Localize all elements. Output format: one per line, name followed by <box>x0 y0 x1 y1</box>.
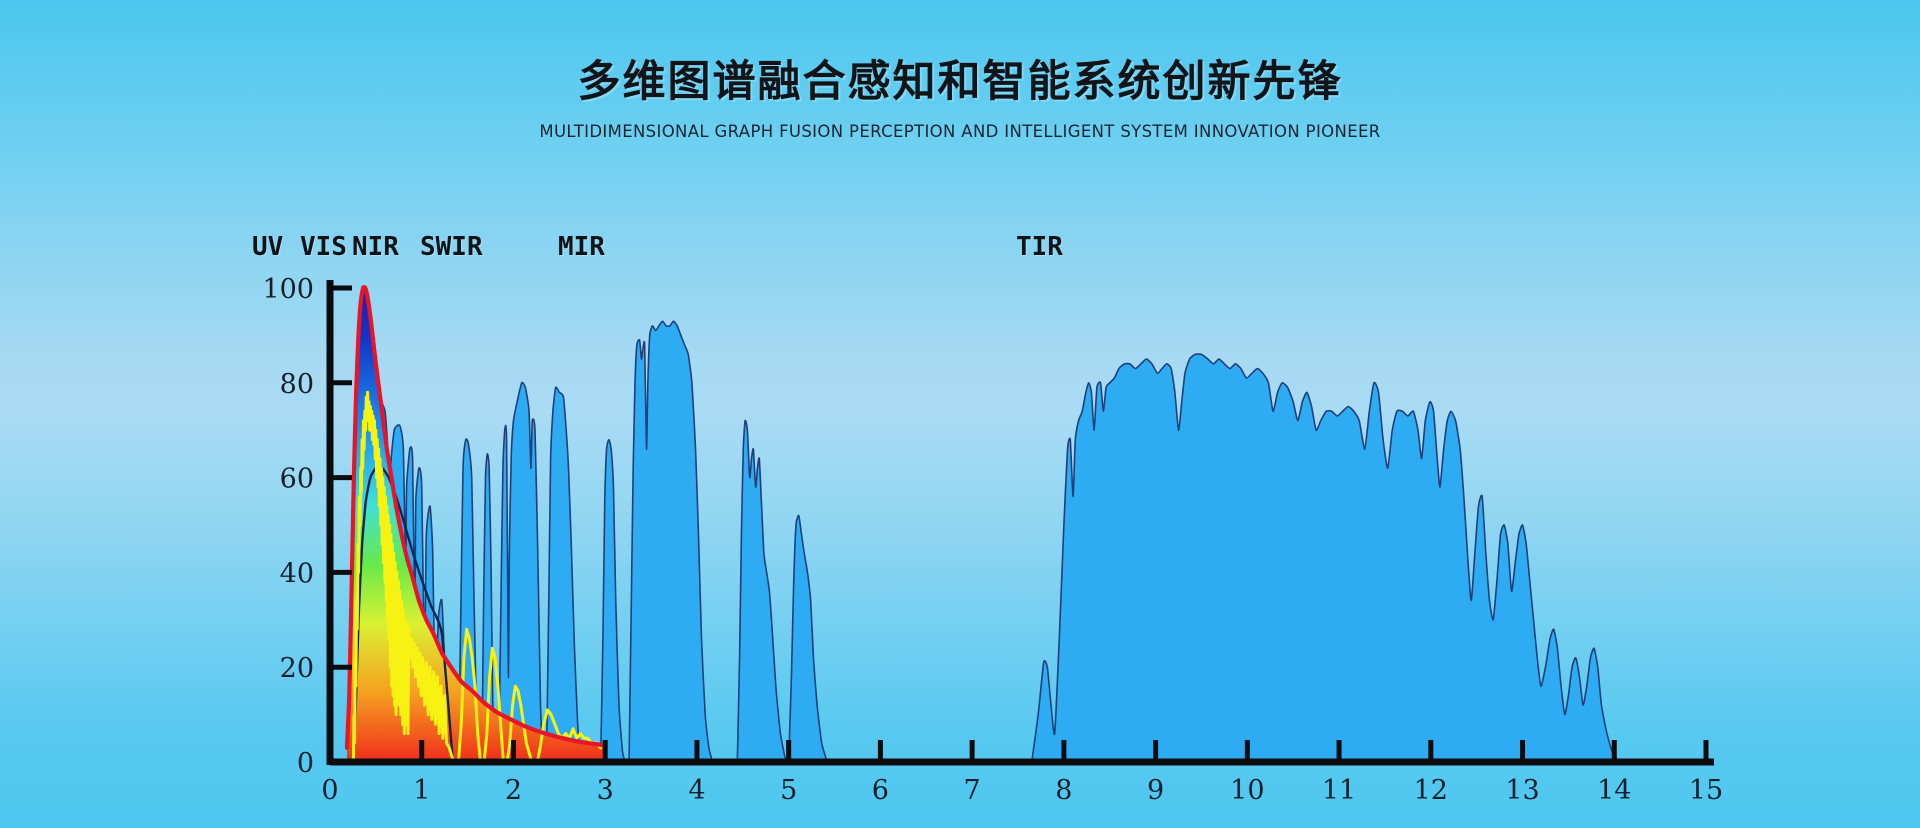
x-axis-tick-labels: 0123456789101112131415 <box>321 775 1723 806</box>
transmission-bands-group <box>354 321 1619 762</box>
x-tick-label: 10 <box>1230 775 1264 806</box>
x-tick-label: 13 <box>1505 775 1539 806</box>
x-tick-label: 1 <box>413 775 430 806</box>
y-axis-tick-labels: 020406080100 <box>262 274 314 779</box>
y-tick-label: 0 <box>297 748 314 779</box>
x-tick-label: 3 <box>597 775 614 806</box>
x-tick-label: 11 <box>1322 775 1356 806</box>
y-tick-label: 60 <box>280 464 314 495</box>
transmission-band <box>546 387 580 762</box>
transmission-band <box>1032 354 1619 762</box>
x-tick-label: 9 <box>1147 775 1164 806</box>
y-tick-label: 20 <box>280 653 314 684</box>
x-tick-label: 8 <box>1055 775 1072 806</box>
x-tick-label: 7 <box>964 775 981 806</box>
x-tick-label: 2 <box>505 775 522 806</box>
y-tick-label: 40 <box>280 558 314 589</box>
transmission-band <box>629 321 712 762</box>
y-tick-label: 100 <box>262 274 314 305</box>
spectrum-chart: 020406080100 0123456789101112131415 <box>0 0 1920 828</box>
transmission-band <box>789 515 828 762</box>
x-tick-label: 5 <box>780 775 797 806</box>
transmission-band <box>601 440 626 762</box>
x-tick-label: 12 <box>1414 775 1448 806</box>
transmission-band <box>737 420 786 762</box>
x-tick-label: 0 <box>321 775 338 806</box>
y-tick-label: 80 <box>280 369 314 400</box>
x-tick-label: 6 <box>872 775 889 806</box>
x-tick-label: 4 <box>688 775 705 806</box>
spectrum-chart-svg: 020406080100 0123456789101112131415 <box>0 0 1920 828</box>
x-tick-label: 14 <box>1597 775 1631 806</box>
poster-root: 多维图谱融合感知和智能系统创新先锋 MULTIDIMENSIONAL GRAPH… <box>0 0 1920 828</box>
x-tick-label: 15 <box>1689 775 1723 806</box>
